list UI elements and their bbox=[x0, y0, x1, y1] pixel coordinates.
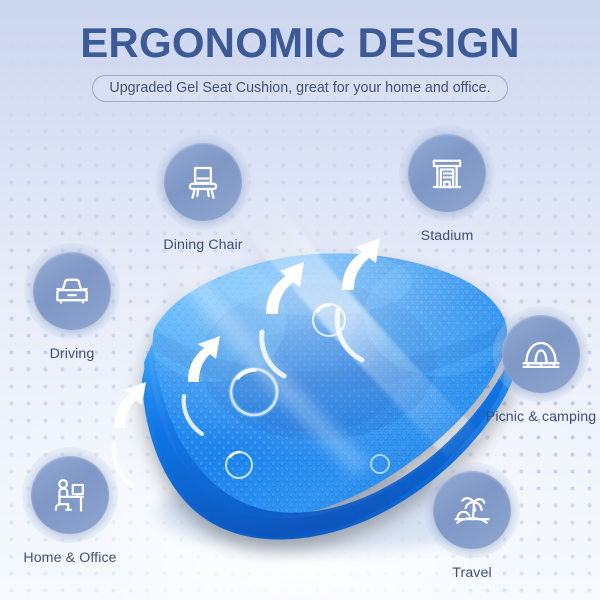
tent-icon bbox=[519, 332, 563, 376]
badge-halo bbox=[399, 125, 495, 221]
palm-tree-island-icon bbox=[450, 488, 494, 532]
subtitle-pill: Upgraded Gel Seat Cushion, great for you… bbox=[92, 75, 507, 102]
chair-icon bbox=[182, 161, 224, 203]
badge-label: Stadium bbox=[372, 228, 522, 244]
badge-halo bbox=[493, 306, 589, 402]
header: ERGONOMIC DESIGN Upgraded Gel Seat Cushi… bbox=[0, 0, 600, 102]
badge-travel[interactable]: Travel bbox=[397, 462, 547, 581]
car-front-icon bbox=[50, 269, 94, 313]
badge-driving[interactable]: Driving bbox=[0, 243, 147, 362]
badge-circle bbox=[33, 252, 111, 330]
badge-label: Dining Chair bbox=[128, 237, 278, 253]
person-at-desk-icon bbox=[48, 473, 92, 517]
badge-halo bbox=[24, 243, 120, 339]
badge-dining-chair[interactable]: Dining Chair bbox=[128, 134, 278, 253]
badge-circle bbox=[31, 456, 109, 534]
badge-label: Home & Office bbox=[0, 550, 145, 566]
badge-circle bbox=[502, 315, 580, 393]
stadium-building-icon bbox=[426, 152, 468, 194]
badge-label: Driving bbox=[0, 346, 147, 362]
badge-halo bbox=[22, 447, 118, 543]
badge-circle bbox=[408, 134, 486, 212]
badge-picnic-camping[interactable]: Picnic & camping bbox=[466, 306, 600, 425]
badge-stadium[interactable]: Stadium bbox=[372, 125, 522, 244]
badge-circle bbox=[433, 471, 511, 549]
badge-home-office[interactable]: Home & Office bbox=[0, 447, 145, 566]
subtitle-container: Upgraded Gel Seat Cushion, great for you… bbox=[0, 75, 600, 102]
badge-circle bbox=[164, 143, 242, 221]
badge-label: Picnic & camping bbox=[466, 409, 600, 425]
badge-halo bbox=[155, 134, 251, 230]
badge-label: Travel bbox=[397, 565, 547, 581]
infographic-canvas: ERGONOMIC DESIGN Upgraded Gel Seat Cushi… bbox=[0, 0, 600, 600]
badge-halo bbox=[424, 462, 520, 558]
page-title: ERGONOMIC DESIGN bbox=[0, 0, 600, 65]
